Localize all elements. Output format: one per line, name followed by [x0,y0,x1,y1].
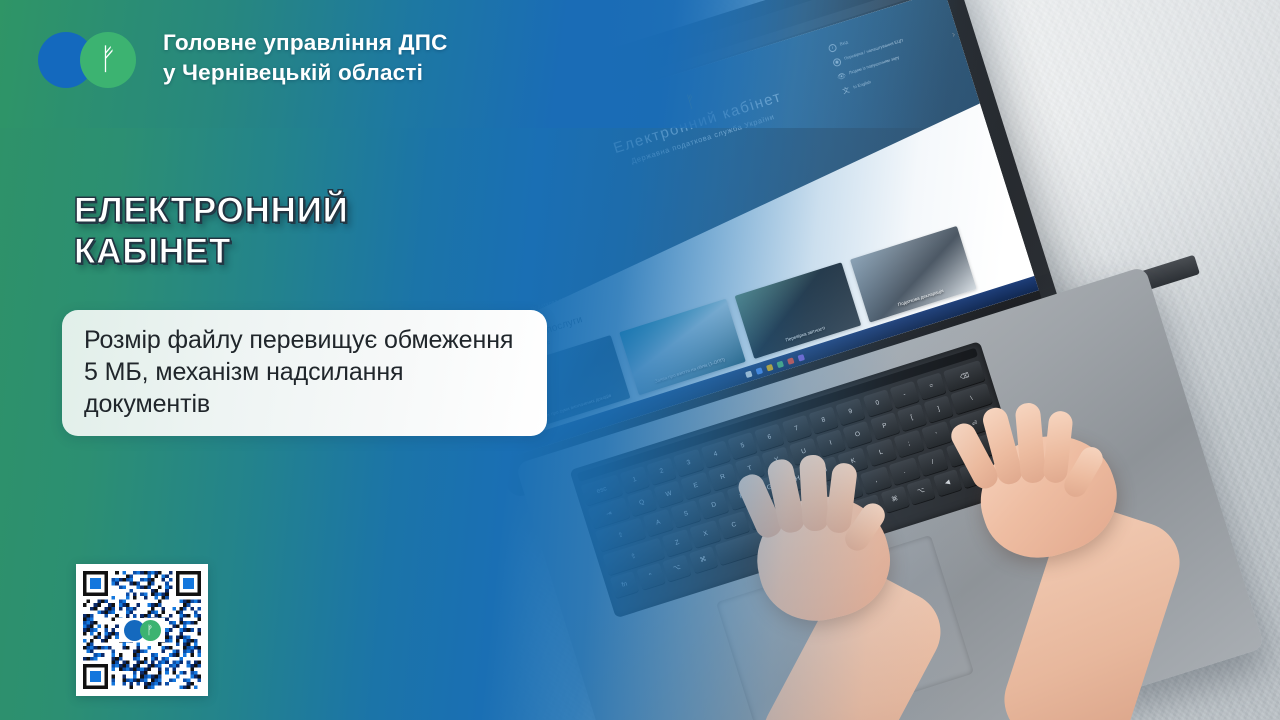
qr-center-logo: ᚠ [119,618,165,642]
organisation-title: Головне управління ДПС у Чернівецькій об… [163,28,448,88]
page-title: ЕЛЕКТРОННИЙ КАБІНЕТ [74,190,349,273]
dps-promo-banner: Головна сторінка — Електронний кабінет Н… [0,0,1280,720]
qr-code[interactable]: ᚠ [76,564,208,696]
logo-group: ᚠ [38,32,136,88]
callout-box: Розмір файлу перевищує обмеження 5 МБ, м… [62,310,547,436]
qr-green-circle-trident-icon: ᚠ [140,620,161,641]
green-circle-trident-icon: ᚠ [80,32,136,88]
callout-text: Розмір файлу перевищує обмеження 5 МБ, м… [84,324,525,420]
